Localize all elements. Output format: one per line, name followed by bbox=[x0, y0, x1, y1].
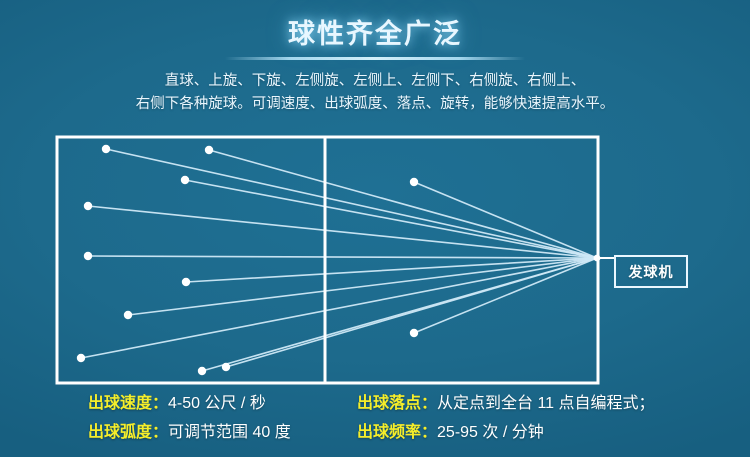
spec-item-landing-point: 出球落点：从定点到全台 11 点自编程式； bbox=[357, 391, 655, 417]
subtitle-line: 右侧下各种旋球。可调速度、出球弧度、落点、旋转，能够快速提高水平。 bbox=[0, 93, 750, 116]
subtitle-line: 直球、上旋、下旋、左侧旋、左侧上、左侧下、右侧旋、右侧上、 bbox=[0, 70, 750, 93]
page-title: 球性齐全广泛 bbox=[0, 0, 750, 51]
spec-label: 出球速度： bbox=[88, 395, 168, 412]
ball-landing-dot bbox=[181, 176, 189, 184]
ball-landing-dot bbox=[124, 311, 132, 319]
ball-landing-dot bbox=[84, 252, 92, 260]
spec-value: 4-50 公尺 / 秒 bbox=[168, 395, 266, 412]
banner-header: 球性齐全广泛 直球、上旋、下旋、左侧旋、左侧上、左侧下、右侧旋、右侧上、 右侧下… bbox=[0, 0, 750, 116]
ball-landing-dot bbox=[84, 202, 92, 210]
ball-landing-dots-group bbox=[77, 145, 616, 375]
ball-landing-dot bbox=[182, 278, 190, 286]
trajectory-line bbox=[106, 149, 597, 258]
trajectory-line bbox=[202, 258, 597, 371]
trajectory-lines-group bbox=[81, 149, 597, 371]
spec-label: 出球频率： bbox=[357, 424, 437, 441]
trajectory-line bbox=[88, 206, 597, 258]
ball-landing-dot bbox=[410, 329, 418, 337]
ball-landing-dot bbox=[222, 363, 230, 371]
spec-item-speed: 出球速度：4-50 公尺 / 秒 bbox=[88, 391, 266, 417]
spec-row: 出球弧度：可调节范围 40 度 出球频率：25-95 次 / 分钟 bbox=[0, 420, 750, 449]
spec-row: 出球速度：4-50 公尺 / 秒 出球落点：从定点到全台 11 点自编程式； bbox=[0, 391, 750, 420]
spec-item-frequency: 出球频率：25-95 次 / 分钟 bbox=[357, 420, 544, 446]
ball-landing-dot bbox=[77, 354, 85, 362]
spec-label: 出球弧度： bbox=[88, 424, 168, 441]
ball-landing-dot bbox=[205, 146, 213, 154]
spec-item-arc: 出球弧度：可调节范围 40 度 bbox=[88, 420, 291, 446]
ball-landing-dot bbox=[198, 367, 206, 375]
trajectory-line bbox=[185, 180, 597, 258]
ball-machine-label-box: 发球机 bbox=[614, 255, 688, 288]
trajectory-line bbox=[88, 256, 597, 258]
spec-list: 出球速度：4-50 公尺 / 秒 出球落点：从定点到全台 11 点自编程式； 出… bbox=[0, 388, 750, 457]
table-outline-group bbox=[57, 137, 598, 383]
ball-landing-dot bbox=[410, 178, 418, 186]
ball-landing-dot bbox=[102, 145, 110, 153]
ball-machine-label: 发球机 bbox=[629, 262, 674, 282]
spec-value: 从定点到全台 11 点自编程式； bbox=[437, 395, 655, 412]
spec-value: 可调节范围 40 度 bbox=[168, 424, 291, 441]
trajectory-line bbox=[414, 182, 597, 258]
subtitle-text: 直球、上旋、下旋、左侧旋、左侧上、左侧下、右侧旋、右侧上、 右侧下各种旋球。可调… bbox=[0, 60, 750, 116]
product-feature-banner: 球性齐全广泛 直球、上旋、下旋、左侧旋、左侧上、左侧下、右侧旋、右侧上、 右侧下… bbox=[0, 0, 750, 457]
table-boundary bbox=[57, 137, 598, 383]
trajectory-line bbox=[209, 150, 597, 258]
spec-value: 25-95 次 / 分钟 bbox=[437, 424, 544, 441]
spec-label: 出球落点： bbox=[357, 395, 437, 412]
